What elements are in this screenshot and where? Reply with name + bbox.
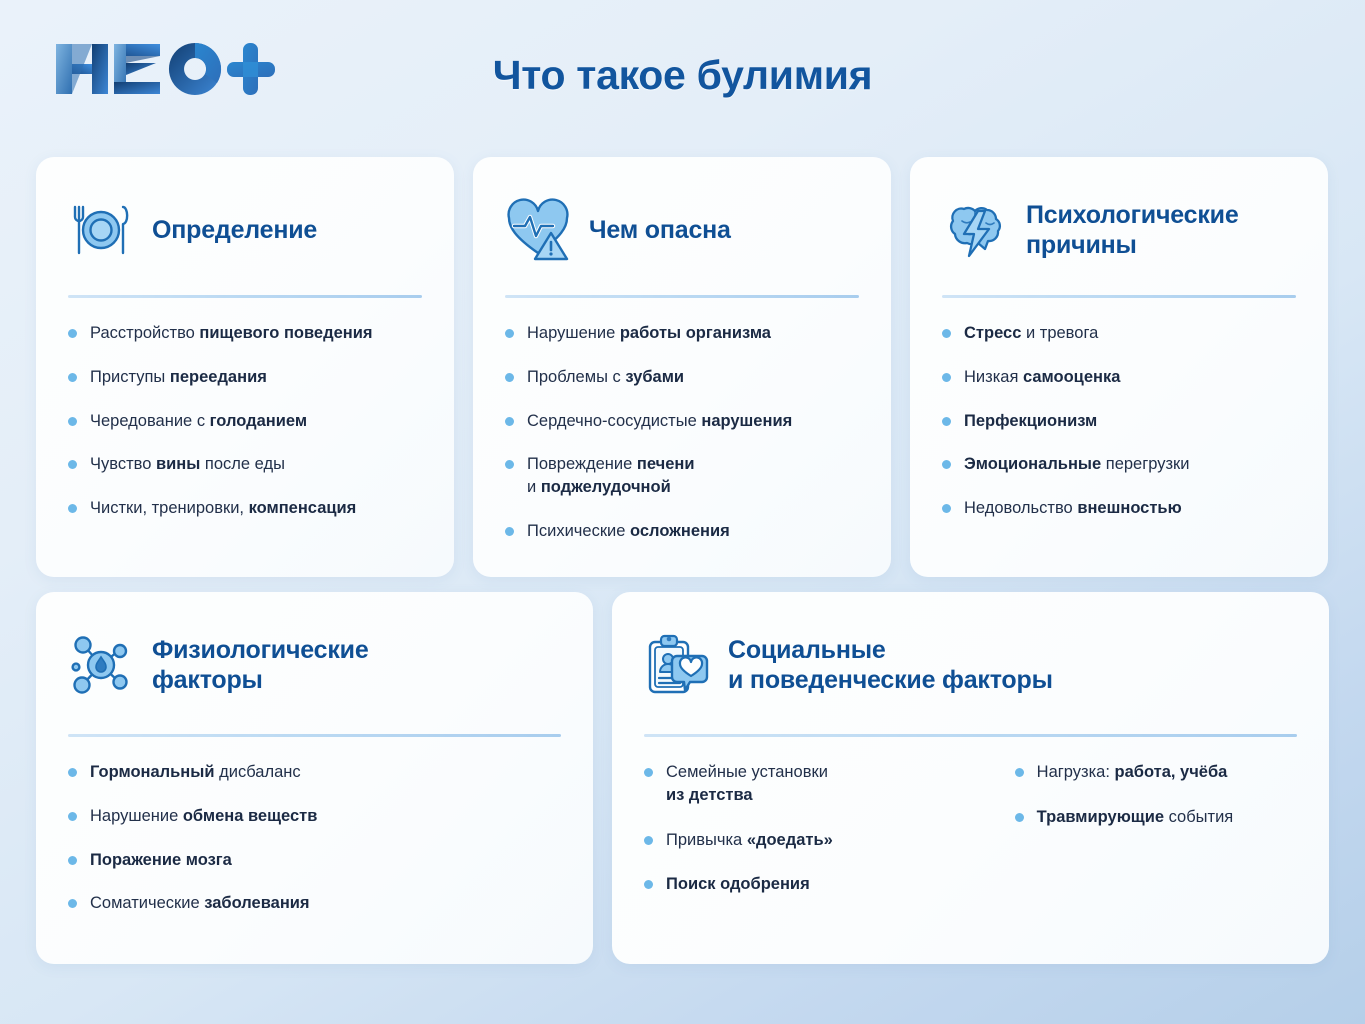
card-social: Социальныеи поведенческие факторы Семейн… — [612, 592, 1329, 964]
bullet-list: Семейные установкииз детстваПривычка «до… — [644, 761, 969, 896]
list-item: Соматические заболевания — [68, 892, 561, 915]
list-item-label: Стресс и тревога — [964, 322, 1098, 345]
list-item: Перфекционизм — [942, 410, 1296, 433]
card-title: Социальныеи поведенческие факторы — [728, 635, 1053, 696]
list-item-label: Чувство вины после еды — [90, 453, 285, 476]
bullet-dot-icon — [942, 460, 951, 469]
card-danger: Чем опасна Нарушение работы организмаПро… — [473, 157, 891, 577]
list-item-label: Травмирующие события — [1037, 806, 1234, 829]
list-item: Чередование с голоданием — [68, 410, 422, 433]
list-item-label: Привычка «доедать» — [666, 829, 833, 852]
card-header: Чем опасна — [505, 187, 859, 273]
list-item: Приступы переедания — [68, 366, 422, 389]
divider — [68, 734, 561, 737]
list-item: Семейные установкииз детства — [644, 761, 969, 807]
list-item-label: Нарушение обмена веществ — [90, 805, 317, 828]
bullet-dot-icon — [644, 768, 653, 777]
bullet-dot-icon — [1015, 768, 1024, 777]
list-item: Поиск одобрения — [644, 873, 969, 896]
bullet-list: Стресс и тревогаНизкая самооценкаПерфекц… — [942, 322, 1296, 520]
bullet-dot-icon — [644, 880, 653, 889]
bullet-dot-icon — [68, 373, 77, 382]
bullet-dot-icon — [68, 417, 77, 426]
bullet-dot-icon — [68, 768, 77, 777]
list-item-label: Семейные установкииз детства — [666, 761, 828, 807]
list-item: Травмирующие события — [1015, 806, 1297, 829]
divider — [942, 295, 1296, 298]
list-item: Стресс и тревога — [942, 322, 1296, 345]
bullet-list: Гормональный дисбалансНарушение обмена в… — [68, 761, 561, 915]
list-item-label: Поиск одобрения — [666, 873, 810, 896]
list-item-label: Чистки, тренировки, компенсация — [90, 497, 356, 520]
list-item: Низкая самооценка — [942, 366, 1296, 389]
list-item-label: Повреждение печении поджелудочной — [527, 453, 695, 499]
bullet-dot-icon — [505, 329, 514, 338]
bullet-dot-icon — [505, 417, 514, 426]
bullet-dot-icon — [1015, 813, 1024, 822]
bullet-column-right: Нагрузка: работа, учёбаТравмирующие собы… — [1015, 761, 1297, 918]
list-item-label: Поражение мозга — [90, 849, 232, 872]
bullet-dot-icon — [68, 899, 77, 908]
list-item-label: Соматические заболевания — [90, 892, 310, 915]
bullet-dot-icon — [68, 460, 77, 469]
divider — [505, 295, 859, 298]
bullet-columns: Семейные установкииз детстваПривычка «до… — [644, 761, 1297, 918]
page-header: Что такое булимия — [0, 0, 1365, 140]
list-item: Поражение мозга — [68, 849, 561, 872]
list-item: Привычка «доедать» — [644, 829, 969, 852]
list-item: Эмоциональные перегрузки — [942, 453, 1296, 476]
card-psychological: Психологическиепричины Стресс и тревогаН… — [910, 157, 1328, 577]
list-item: Нарушение работы организма — [505, 322, 859, 345]
list-item: Чистки, тренировки, компенсация — [68, 497, 422, 520]
bullet-dot-icon — [942, 329, 951, 338]
list-item: Проблемы с зубами — [505, 366, 859, 389]
bullet-column-left: Семейные установкииз детстваПривычка «до… — [644, 761, 969, 918]
list-item-label: Низкая самооценка — [964, 366, 1120, 389]
bullet-list: Нагрузка: работа, учёбаТравмирующие собы… — [1015, 761, 1297, 829]
list-item: Сердечно-сосудистые нарушения — [505, 410, 859, 433]
list-item-label: Недовольство внешностью — [964, 497, 1182, 520]
list-item: Психические осложнения — [505, 520, 859, 543]
list-item: Чувство вины после еды — [68, 453, 422, 476]
cards-row-top: Определение Расстройство пищевого поведе… — [36, 157, 1329, 577]
list-item-label: Чередование с голоданием — [90, 410, 307, 433]
brain-lightning-icon — [942, 197, 1008, 263]
bullet-dot-icon — [68, 812, 77, 821]
card-definition: Определение Расстройство пищевого поведе… — [36, 157, 454, 577]
bullet-dot-icon — [942, 504, 951, 513]
clipboard-person-heart-icon — [644, 632, 710, 698]
bullet-list: Расстройство пищевого поведенияПриступы … — [68, 322, 422, 520]
card-title: Психологическиепричины — [1026, 200, 1239, 261]
list-item-label: Нарушение работы организма — [527, 322, 771, 345]
bullet-dot-icon — [644, 836, 653, 845]
list-item-label: Перфекционизм — [964, 410, 1097, 433]
bullet-dot-icon — [68, 504, 77, 513]
page-title: Что такое булимия — [0, 52, 1365, 99]
bullet-dot-icon — [942, 373, 951, 382]
list-item-label: Приступы переедания — [90, 366, 267, 389]
bullet-dot-icon — [68, 856, 77, 865]
card-header: Физиологическиефакторы — [68, 622, 561, 708]
card-header: Социальныеи поведенческие факторы — [644, 622, 1297, 708]
list-item-label: Эмоциональные перегрузки — [964, 453, 1190, 476]
card-title: Чем опасна — [589, 215, 731, 246]
list-item-label: Нагрузка: работа, учёба — [1037, 761, 1228, 784]
list-item: Расстройство пищевого поведения — [68, 322, 422, 345]
bullet-dot-icon — [942, 417, 951, 426]
list-item-label: Гормональный дисбаланс — [90, 761, 301, 784]
list-item-label: Расстройство пищевого поведения — [90, 322, 373, 345]
list-item: Нарушение обмена веществ — [68, 805, 561, 828]
bullet-dot-icon — [505, 460, 514, 469]
list-item: Гормональный дисбаланс — [68, 761, 561, 784]
molecule-hormone-icon — [68, 632, 134, 698]
list-item: Недовольство внешностью — [942, 497, 1296, 520]
list-item: Нагрузка: работа, учёба — [1015, 761, 1297, 784]
card-header: Психологическиепричины — [942, 187, 1296, 273]
plate-fork-knife-icon — [68, 197, 134, 263]
card-title: Физиологическиефакторы — [152, 635, 369, 696]
list-item: Повреждение печении поджелудочной — [505, 453, 859, 499]
bullet-dot-icon — [68, 329, 77, 338]
card-title: Определение — [152, 215, 317, 246]
bullet-dot-icon — [505, 373, 514, 382]
cards-row-bottom: Физиологическиефакторы Гормональный дисб… — [36, 592, 1329, 964]
card-header: Определение — [68, 187, 422, 273]
list-item-label: Психические осложнения — [527, 520, 730, 543]
card-physiological: Физиологическиефакторы Гормональный дисб… — [36, 592, 593, 964]
divider — [644, 734, 1297, 737]
divider — [68, 295, 422, 298]
heart-pulse-warning-icon — [505, 197, 571, 263]
list-item-label: Проблемы с зубами — [527, 366, 684, 389]
bullet-list: Нарушение работы организмаПроблемы с зуб… — [505, 322, 859, 543]
list-item-label: Сердечно-сосудистые нарушения — [527, 410, 792, 433]
bullet-dot-icon — [505, 527, 514, 536]
